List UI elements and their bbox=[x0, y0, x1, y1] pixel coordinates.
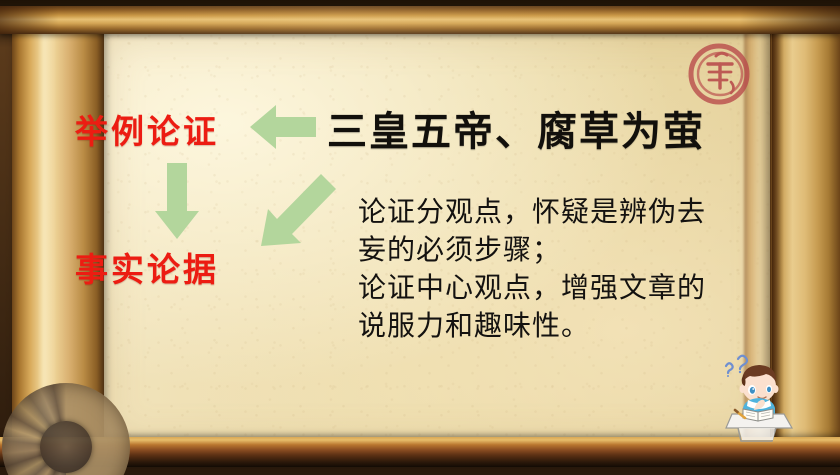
arrow-diagonal-down-left-icon bbox=[258, 163, 340, 249]
body-line: 论证中心观点，增强文章的 bbox=[358, 269, 778, 307]
arrow-left-icon bbox=[250, 104, 316, 150]
body-line: 妄的必须步骤； bbox=[358, 231, 778, 269]
body-line: 说服力和趣味性。 bbox=[358, 307, 778, 345]
body-paragraph: 论证分观点，怀疑是辨伪去 妄的必须步骤； 论证中心观点，增强文章的 说服力和趣味… bbox=[358, 193, 778, 345]
body-line: 论证分观点，怀疑是辨伪去 bbox=[358, 193, 778, 231]
scroll-rod-top-icon bbox=[0, 6, 840, 34]
label-example-argument: 举例论证 bbox=[75, 105, 219, 153]
arrow-down-icon bbox=[153, 163, 201, 239]
page-title: 三皇五帝、腐草为萤 bbox=[327, 99, 705, 157]
red-seal-stamp-icon bbox=[686, 38, 754, 110]
slide-canvas: 举例论证 事实论据 三皇五帝、腐草为萤 论证分观点，怀疑是辨伪去 妄的必须步骤；… bbox=[0, 0, 840, 475]
label-factual-evidence: 事实论据 bbox=[75, 243, 219, 291]
thinking-student-icon bbox=[714, 352, 800, 442]
